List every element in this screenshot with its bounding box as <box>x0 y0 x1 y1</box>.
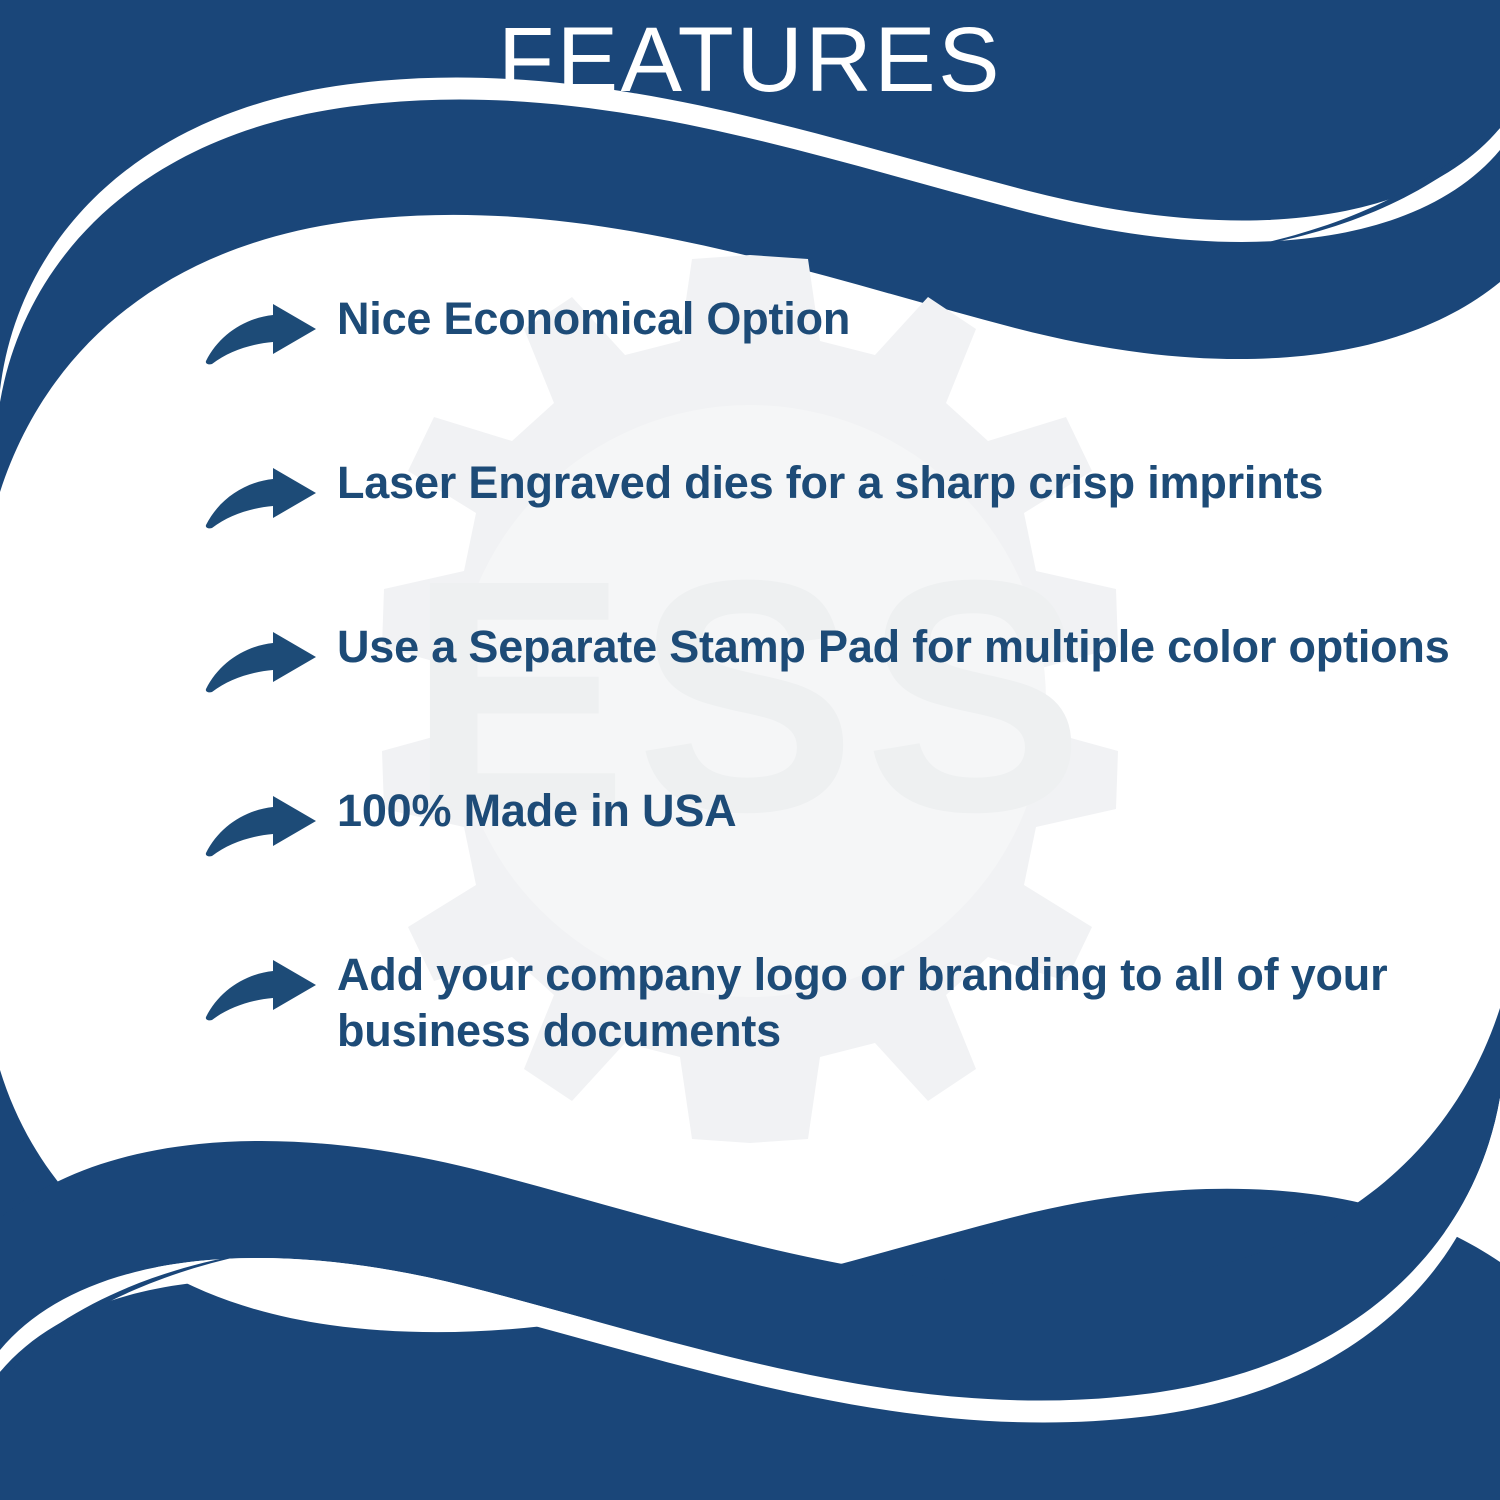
feature-label: Use a Separate Stamp Pad for multiple co… <box>337 618 1450 675</box>
curved-arrow-right-icon <box>205 632 317 694</box>
feature-list: Nice Economical Option Laser Engraved di… <box>205 290 1485 1059</box>
feature-label: Add your company logo or branding to all… <box>337 946 1457 1059</box>
feature-label: Nice Economical Option <box>337 290 850 347</box>
feature-label: Laser Engraved dies for a sharp crisp im… <box>337 454 1323 511</box>
list-item: Nice Economical Option <box>205 290 1485 366</box>
list-item: 100% Made in USA <box>205 782 1485 858</box>
curved-arrow-right-icon <box>205 796 317 858</box>
feature-label: 100% Made in USA <box>337 782 736 839</box>
curved-arrow-right-icon <box>205 960 317 1022</box>
curved-arrow-right-icon <box>205 304 317 366</box>
title-bar: FEATURES <box>0 0 1500 120</box>
bullet-icon-cell <box>205 290 337 366</box>
bullet-icon-cell <box>205 782 337 858</box>
bullet-icon-cell <box>205 454 337 530</box>
list-item: Use a Separate Stamp Pad for multiple co… <box>205 618 1485 694</box>
list-item: Laser Engraved dies for a sharp crisp im… <box>205 454 1485 530</box>
bullet-icon-cell <box>205 946 337 1022</box>
bullet-icon-cell <box>205 618 337 694</box>
list-item: Add your company logo or branding to all… <box>205 946 1485 1059</box>
page-title: FEATURES <box>498 14 1002 106</box>
curved-arrow-right-icon <box>205 468 317 530</box>
features-banner: ESS FEATURES Nice Economical Option Lase… <box>0 0 1500 1500</box>
